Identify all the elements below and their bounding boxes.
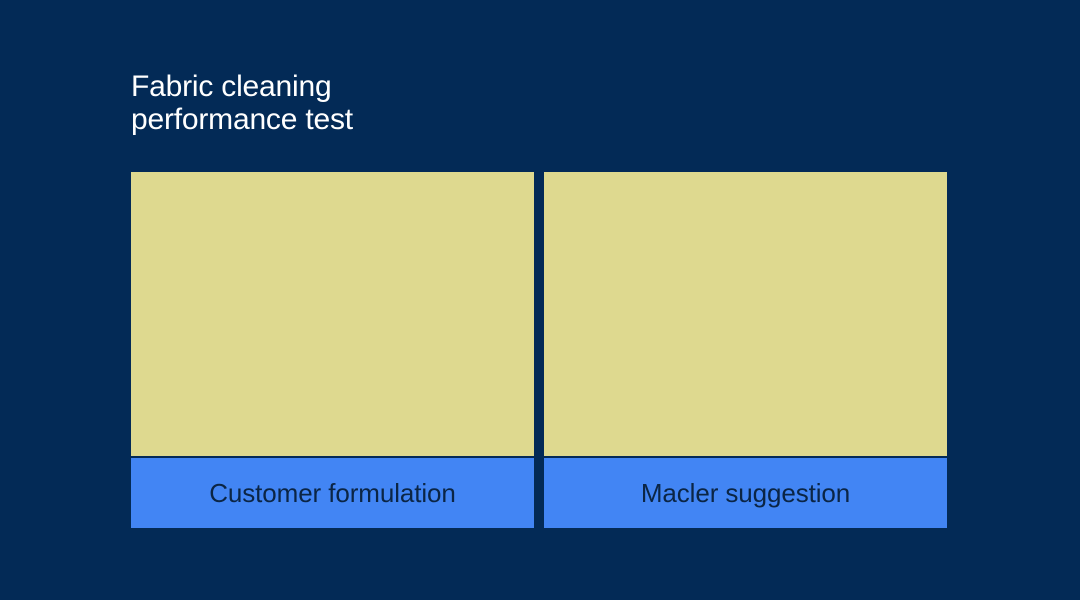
caption-bar-macler-suggestion: Macler suggestion	[544, 458, 947, 528]
comparison-panel-customer-formulation: Customer formulation	[131, 172, 534, 528]
page-title-line-1: Fabric cleaning	[131, 70, 651, 103]
page-title-line-2: performance test	[131, 103, 651, 136]
caption-label-customer-formulation: Customer formulation	[209, 478, 456, 508]
fabric-swatch-clean	[544, 172, 947, 456]
caption-bar-customer-formulation: Customer formulation	[131, 458, 534, 528]
comparison-panel-macler-suggestion: Macler suggestion	[544, 172, 947, 528]
caption-label-macler-suggestion: Macler suggestion	[641, 478, 850, 508]
comparison-panels: Customer formulation Macler suggestion	[131, 172, 947, 528]
page-title: Fabric cleaning performance test	[131, 70, 651, 136]
slide-canvas: Fabric cleaning performance test Custome…	[0, 0, 1080, 600]
fabric-swatch-yellowed	[131, 172, 534, 456]
